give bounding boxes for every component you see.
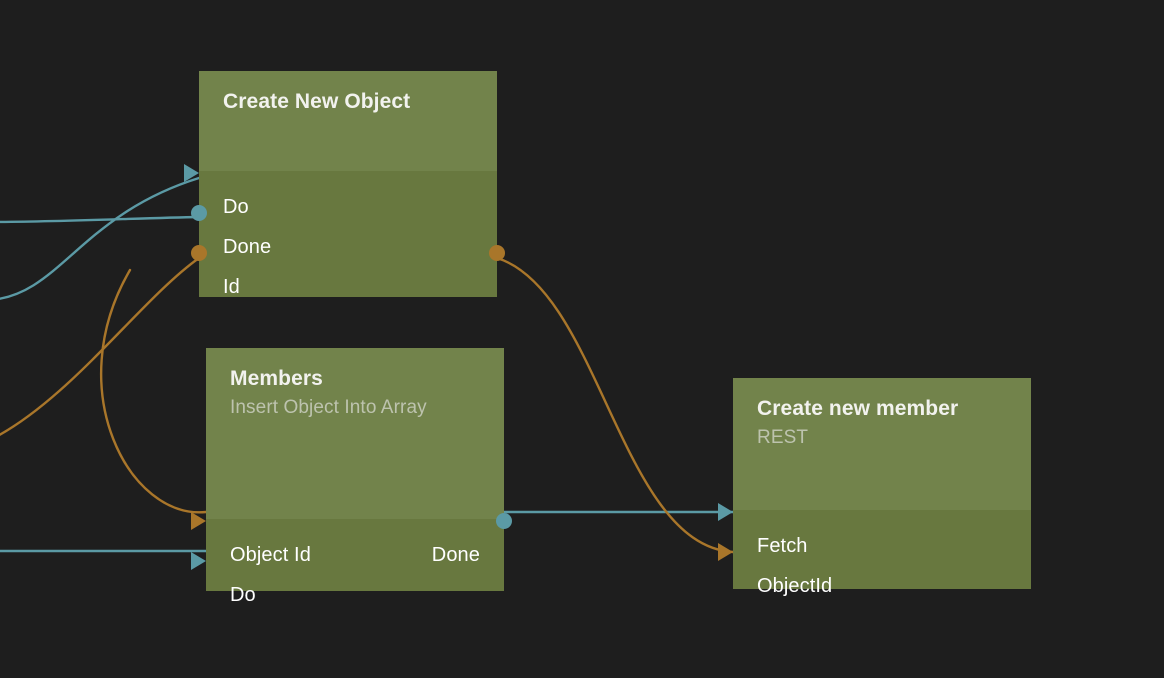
- node-subtitle: REST: [757, 423, 1007, 452]
- node-subtitle: Insert Object Into Array: [230, 393, 480, 422]
- port-row: Done: [199, 227, 497, 267]
- port-row: Object IdDone: [206, 535, 504, 575]
- node-create-new-object[interactable]: Create New ObjectDoDoneId: [199, 71, 497, 297]
- node-body-create-new-member: FetchObjectId: [733, 510, 1031, 606]
- node-title: Members: [230, 366, 480, 392]
- input-connector-orange[interactable]: [718, 543, 733, 561]
- port-row: Do: [206, 575, 504, 615]
- node-title: Create New Object: [223, 89, 473, 115]
- graph-edge[interactable]: [101, 270, 206, 512]
- input-connector-orange[interactable]: [191, 245, 207, 261]
- node-create-new-member[interactable]: Create new memberRESTFetchObjectId: [733, 378, 1031, 589]
- node-title: Create new member: [757, 396, 1007, 422]
- input-connector-teal[interactable]: [191, 552, 206, 570]
- input-connector-orange[interactable]: [191, 512, 206, 530]
- node-header-create-new-member[interactable]: Create new memberREST: [733, 378, 1031, 510]
- node-header-create-new-object[interactable]: Create New Object: [199, 71, 497, 171]
- input-port-label: Do: [223, 197, 249, 217]
- port-row: ObjectId: [733, 566, 1031, 606]
- input-connector-teal[interactable]: [191, 205, 207, 221]
- input-connector-teal[interactable]: [184, 164, 199, 182]
- node-header-members[interactable]: MembersInsert Object Into Array: [206, 348, 504, 519]
- graph-edge[interactable]: [0, 258, 199, 440]
- input-port-label: ObjectId: [757, 576, 832, 596]
- input-port-label: Fetch: [757, 536, 808, 556]
- node-body-create-new-object: DoDoneId: [199, 171, 497, 307]
- graph-edge[interactable]: [497, 258, 733, 552]
- port-row: Fetch: [733, 526, 1031, 566]
- port-row: Id: [199, 267, 497, 307]
- output-port-label: Done: [432, 545, 480, 565]
- graph-edge[interactable]: [0, 217, 199, 222]
- port-row: Do: [199, 187, 497, 227]
- node-graph-canvas[interactable]: Create New ObjectDoDoneIdMembersInsert O…: [0, 0, 1164, 678]
- output-connector-orange[interactable]: [489, 245, 505, 261]
- input-connector-teal[interactable]: [718, 503, 733, 521]
- input-port-label: Do: [230, 585, 256, 605]
- input-port-label: Object Id: [230, 545, 311, 565]
- output-connector-teal[interactable]: [496, 513, 512, 529]
- node-body-members: Object IdDoneDo: [206, 519, 504, 615]
- input-port-label: Id: [223, 277, 240, 297]
- input-port-label: Done: [223, 237, 271, 257]
- graph-edge[interactable]: [0, 178, 199, 300]
- node-members[interactable]: MembersInsert Object Into ArrayObject Id…: [206, 348, 504, 591]
